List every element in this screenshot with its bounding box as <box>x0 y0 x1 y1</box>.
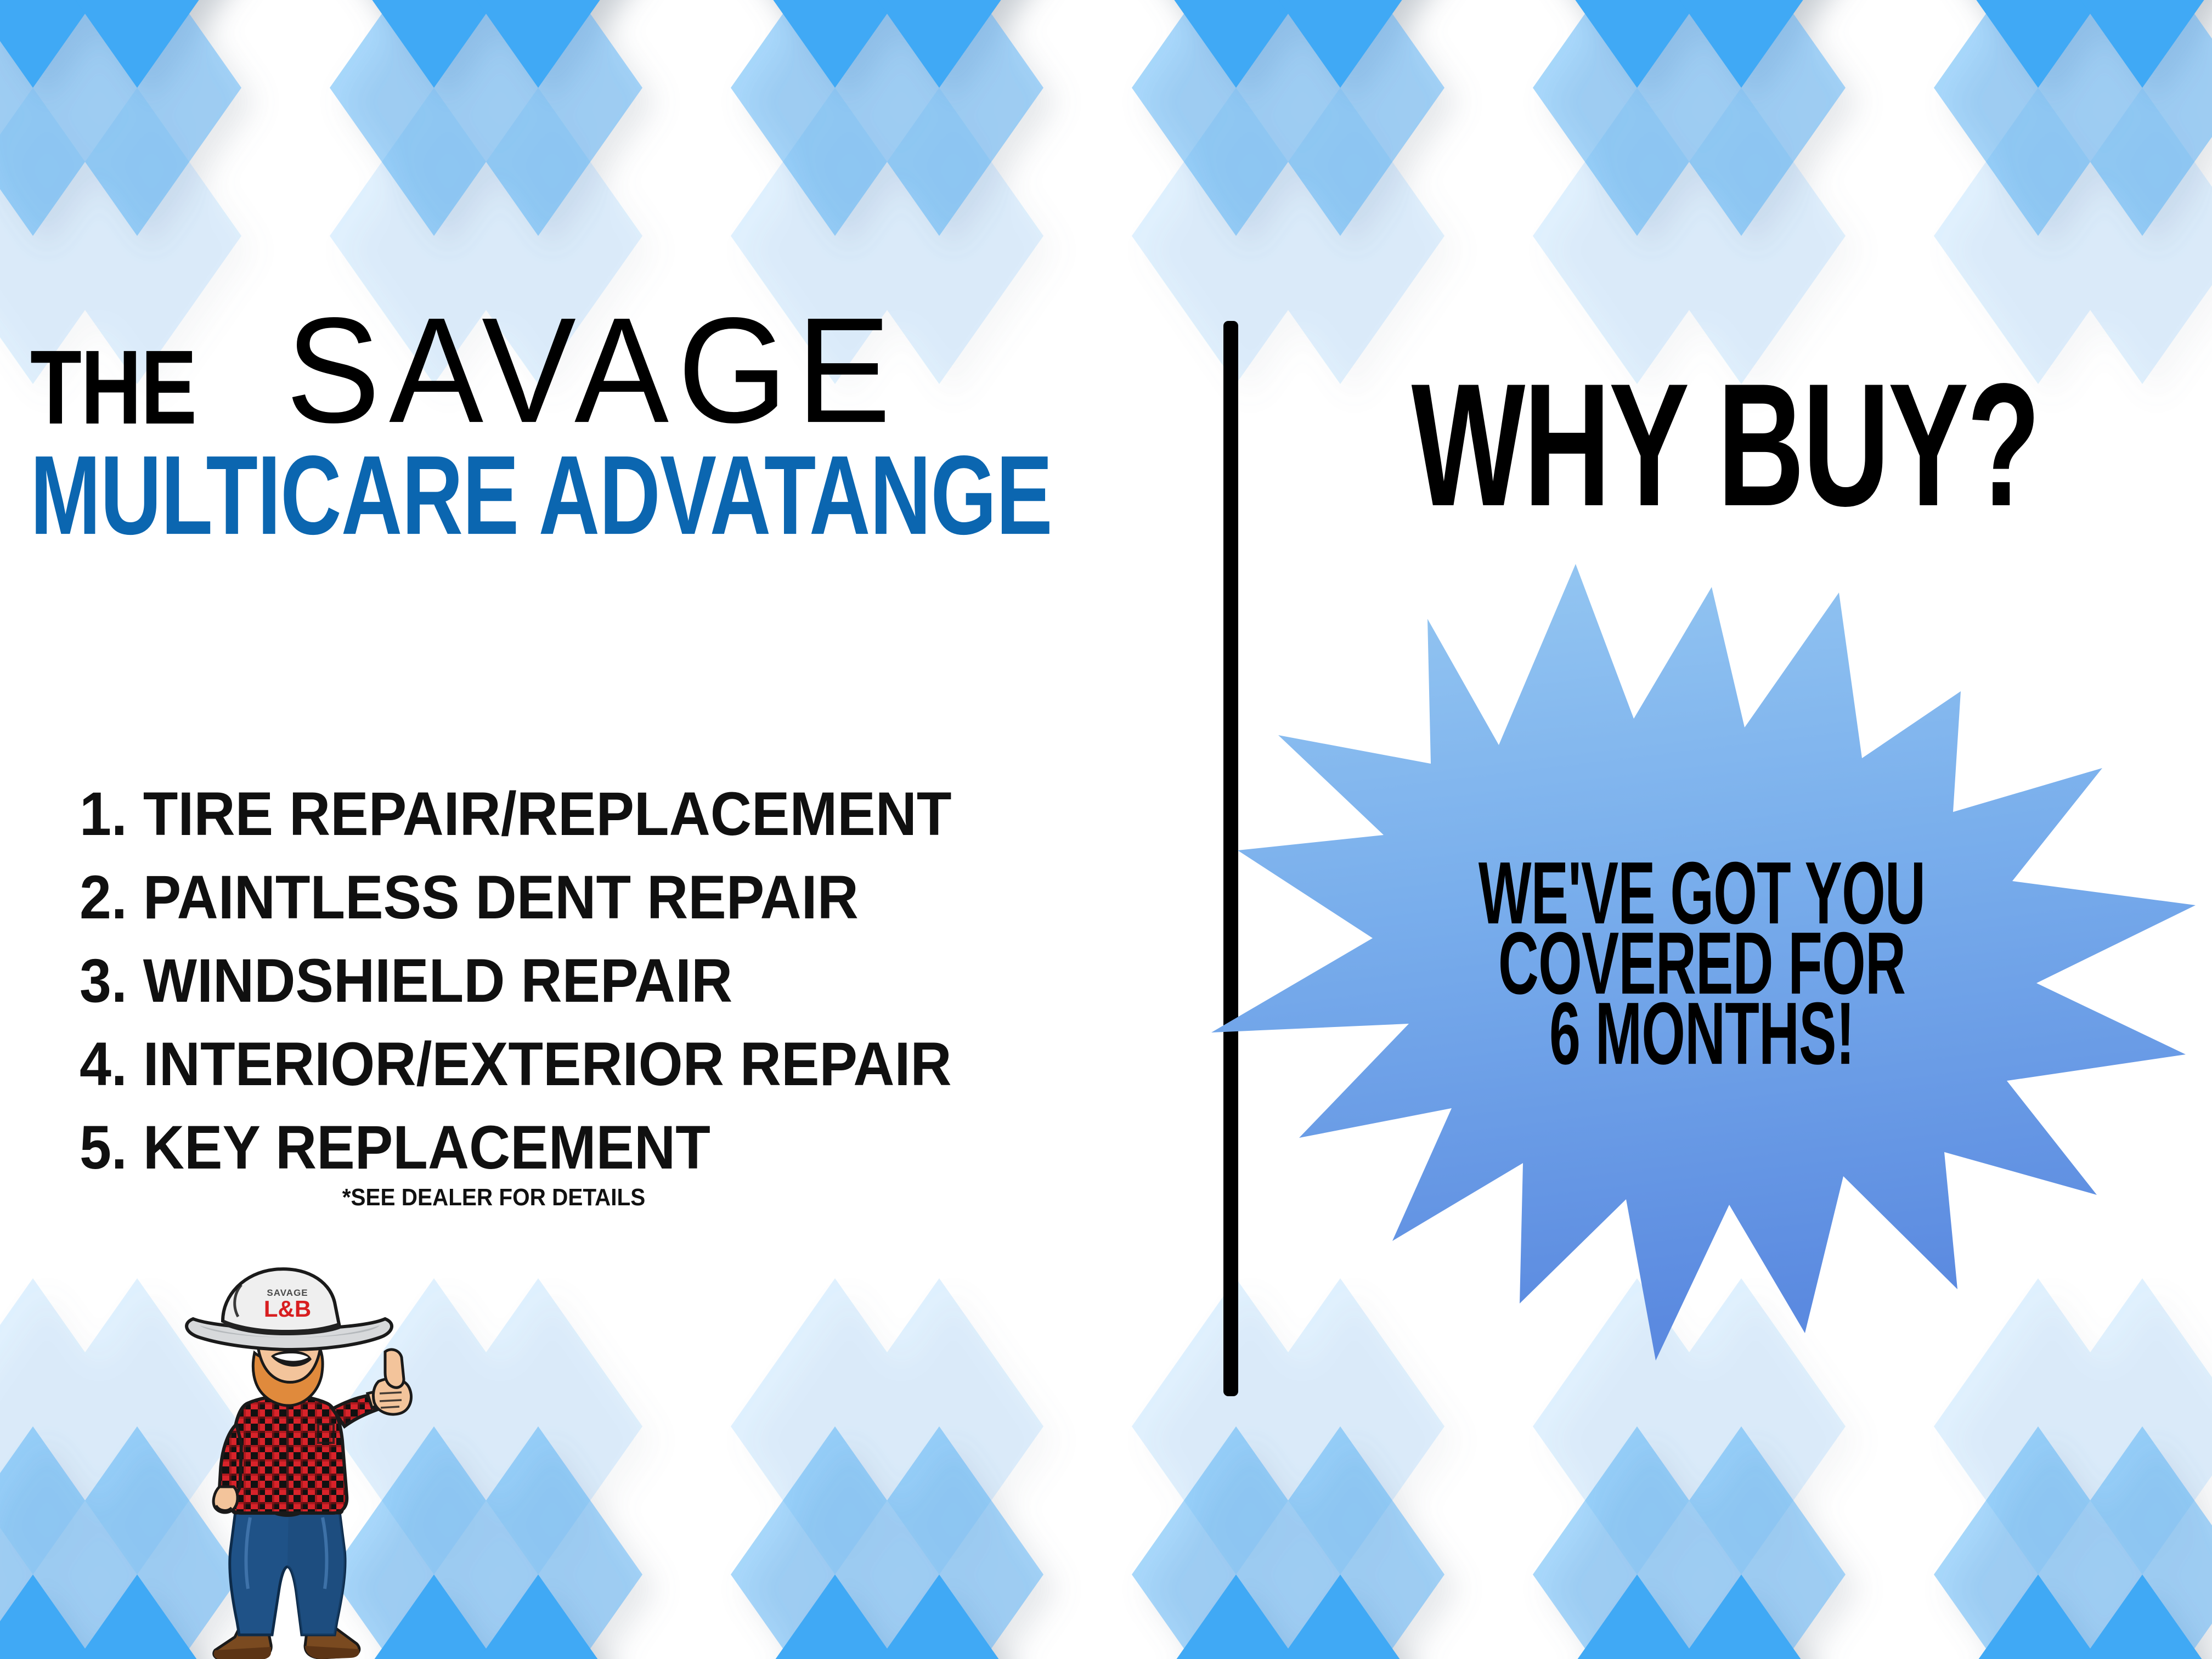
mascot-plaid-shirt <box>228 1396 347 1513</box>
mascot-left-arm <box>213 1424 241 1513</box>
mascot-jeans <box>230 1508 345 1635</box>
starburst-shape <box>1192 554 2212 1399</box>
headline-savage: SAVAGE <box>286 311 900 431</box>
headline-the: THE <box>30 344 196 430</box>
hat-logo-lb: L&B <box>264 1296 311 1322</box>
disclaimer-text: *SEE DEALER FOR DETAILS <box>39 1184 948 1211</box>
headline-top-row: THE SAVAGE <box>30 317 1193 430</box>
list-item: 1. TIRE REPAIR/REPLACEMENT <box>80 783 1100 845</box>
mascot-boots <box>214 1628 359 1659</box>
headline-multicare-advatange: MULTICARE ADVATANGE <box>30 442 1100 549</box>
headline-block: THE SAVAGE MULTICARE ADVATANGE <box>30 317 1193 530</box>
left-panel: THE SAVAGE MULTICARE ADVATANGE 1. TIRE R… <box>0 0 1223 1659</box>
starburst-callout: WE'VE GOT YOU COVERED FOR 6 MONTHS! <box>1192 554 2212 1399</box>
why-buy-heading: WHY BUY? <box>1336 370 2115 521</box>
mascot-cowboy-hat: SAVAGE L&B <box>187 1269 392 1350</box>
list-item: 2. PAINTLESS DENT REPAIR <box>80 867 1100 928</box>
right-panel: WHY BUY? WE'VE GOT YOU COVERED FOR 6 MON… <box>1238 0 2212 1659</box>
poster-canvas: THE SAVAGE MULTICARE ADVATANGE 1. TIRE R… <box>0 0 2212 1659</box>
mascot-thumbs-up <box>332 1350 411 1426</box>
service-list: 1. TIRE REPAIR/REPLACEMENT 2. PAINTLESS … <box>80 783 1177 1200</box>
hat-logo: SAVAGE L&B <box>264 1288 311 1322</box>
list-item: 5. KEY REPLACEMENT <box>80 1117 1100 1178</box>
list-item: 4. INTERIOR/EXTERIOR REPAIR <box>80 1034 1100 1095</box>
list-item: 3. WINDSHIELD REPAIR <box>80 950 1100 1012</box>
savage-lb-lumberjack-mascot: SAVAGE L&B <box>158 1260 416 1659</box>
